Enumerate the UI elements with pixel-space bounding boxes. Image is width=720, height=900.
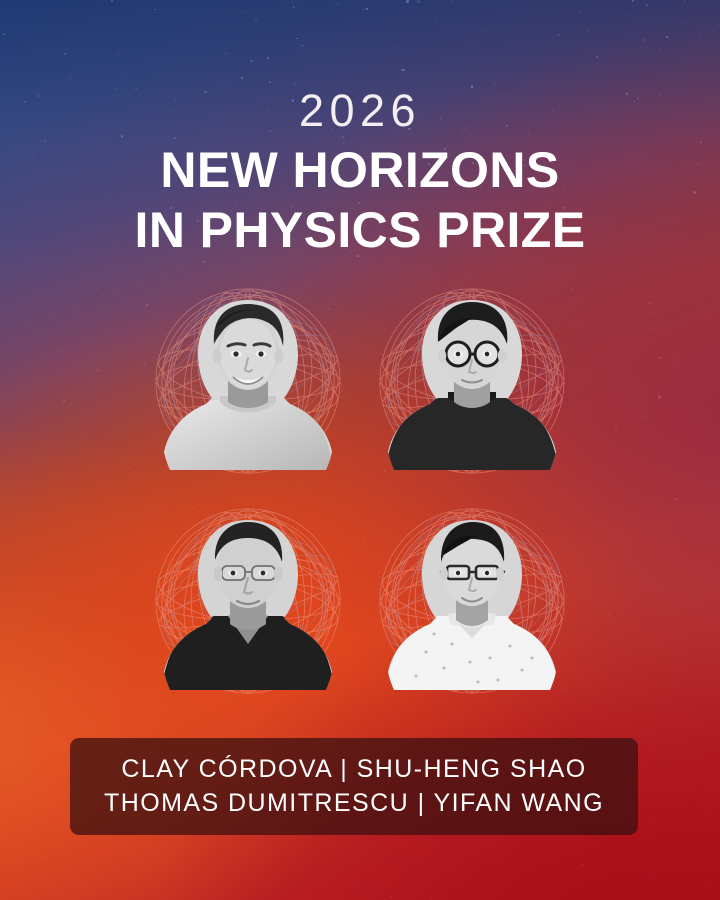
laureate-cell-yifan-wang: [372, 496, 572, 706]
laureate-cell-clay-cordova: [148, 276, 348, 486]
laureate-names-line-1: CLAY CÓRDOVA | SHU-HENG SHAO: [121, 755, 586, 784]
portrait-thomas-dumitrescu: [162, 512, 334, 690]
portrait-clay-cordova: [162, 292, 334, 470]
laureate-names-line-2: THOMAS DUMITRESCU | YIFAN WANG: [104, 789, 604, 818]
laureate-names-bar: CLAY CÓRDOVA | SHU-HENG SHAO THOMAS DUMI…: [70, 738, 638, 835]
prize-year: 2026: [0, 88, 720, 133]
poster-title-block: 2026 NEW HORIZONS IN PHYSICS PRIZE: [0, 88, 720, 260]
portrait-yifan-wang: [386, 512, 558, 690]
laureate-cell-thomas-dumitrescu: [148, 496, 348, 706]
portrait-shu-heng-shao: [386, 292, 558, 470]
prize-title: NEW HORIZONS IN PHYSICS PRIZE: [0, 141, 720, 260]
laureate-portrait-grid: [148, 276, 572, 706]
laureate-cell-shu-heng-shao: [372, 276, 572, 486]
prize-title-line-2: IN PHYSICS PRIZE: [0, 201, 720, 261]
prize-poster: 2026 NEW HORIZONS IN PHYSICS PRIZE: [0, 0, 720, 900]
prize-title-line-1: NEW HORIZONS: [0, 141, 720, 201]
